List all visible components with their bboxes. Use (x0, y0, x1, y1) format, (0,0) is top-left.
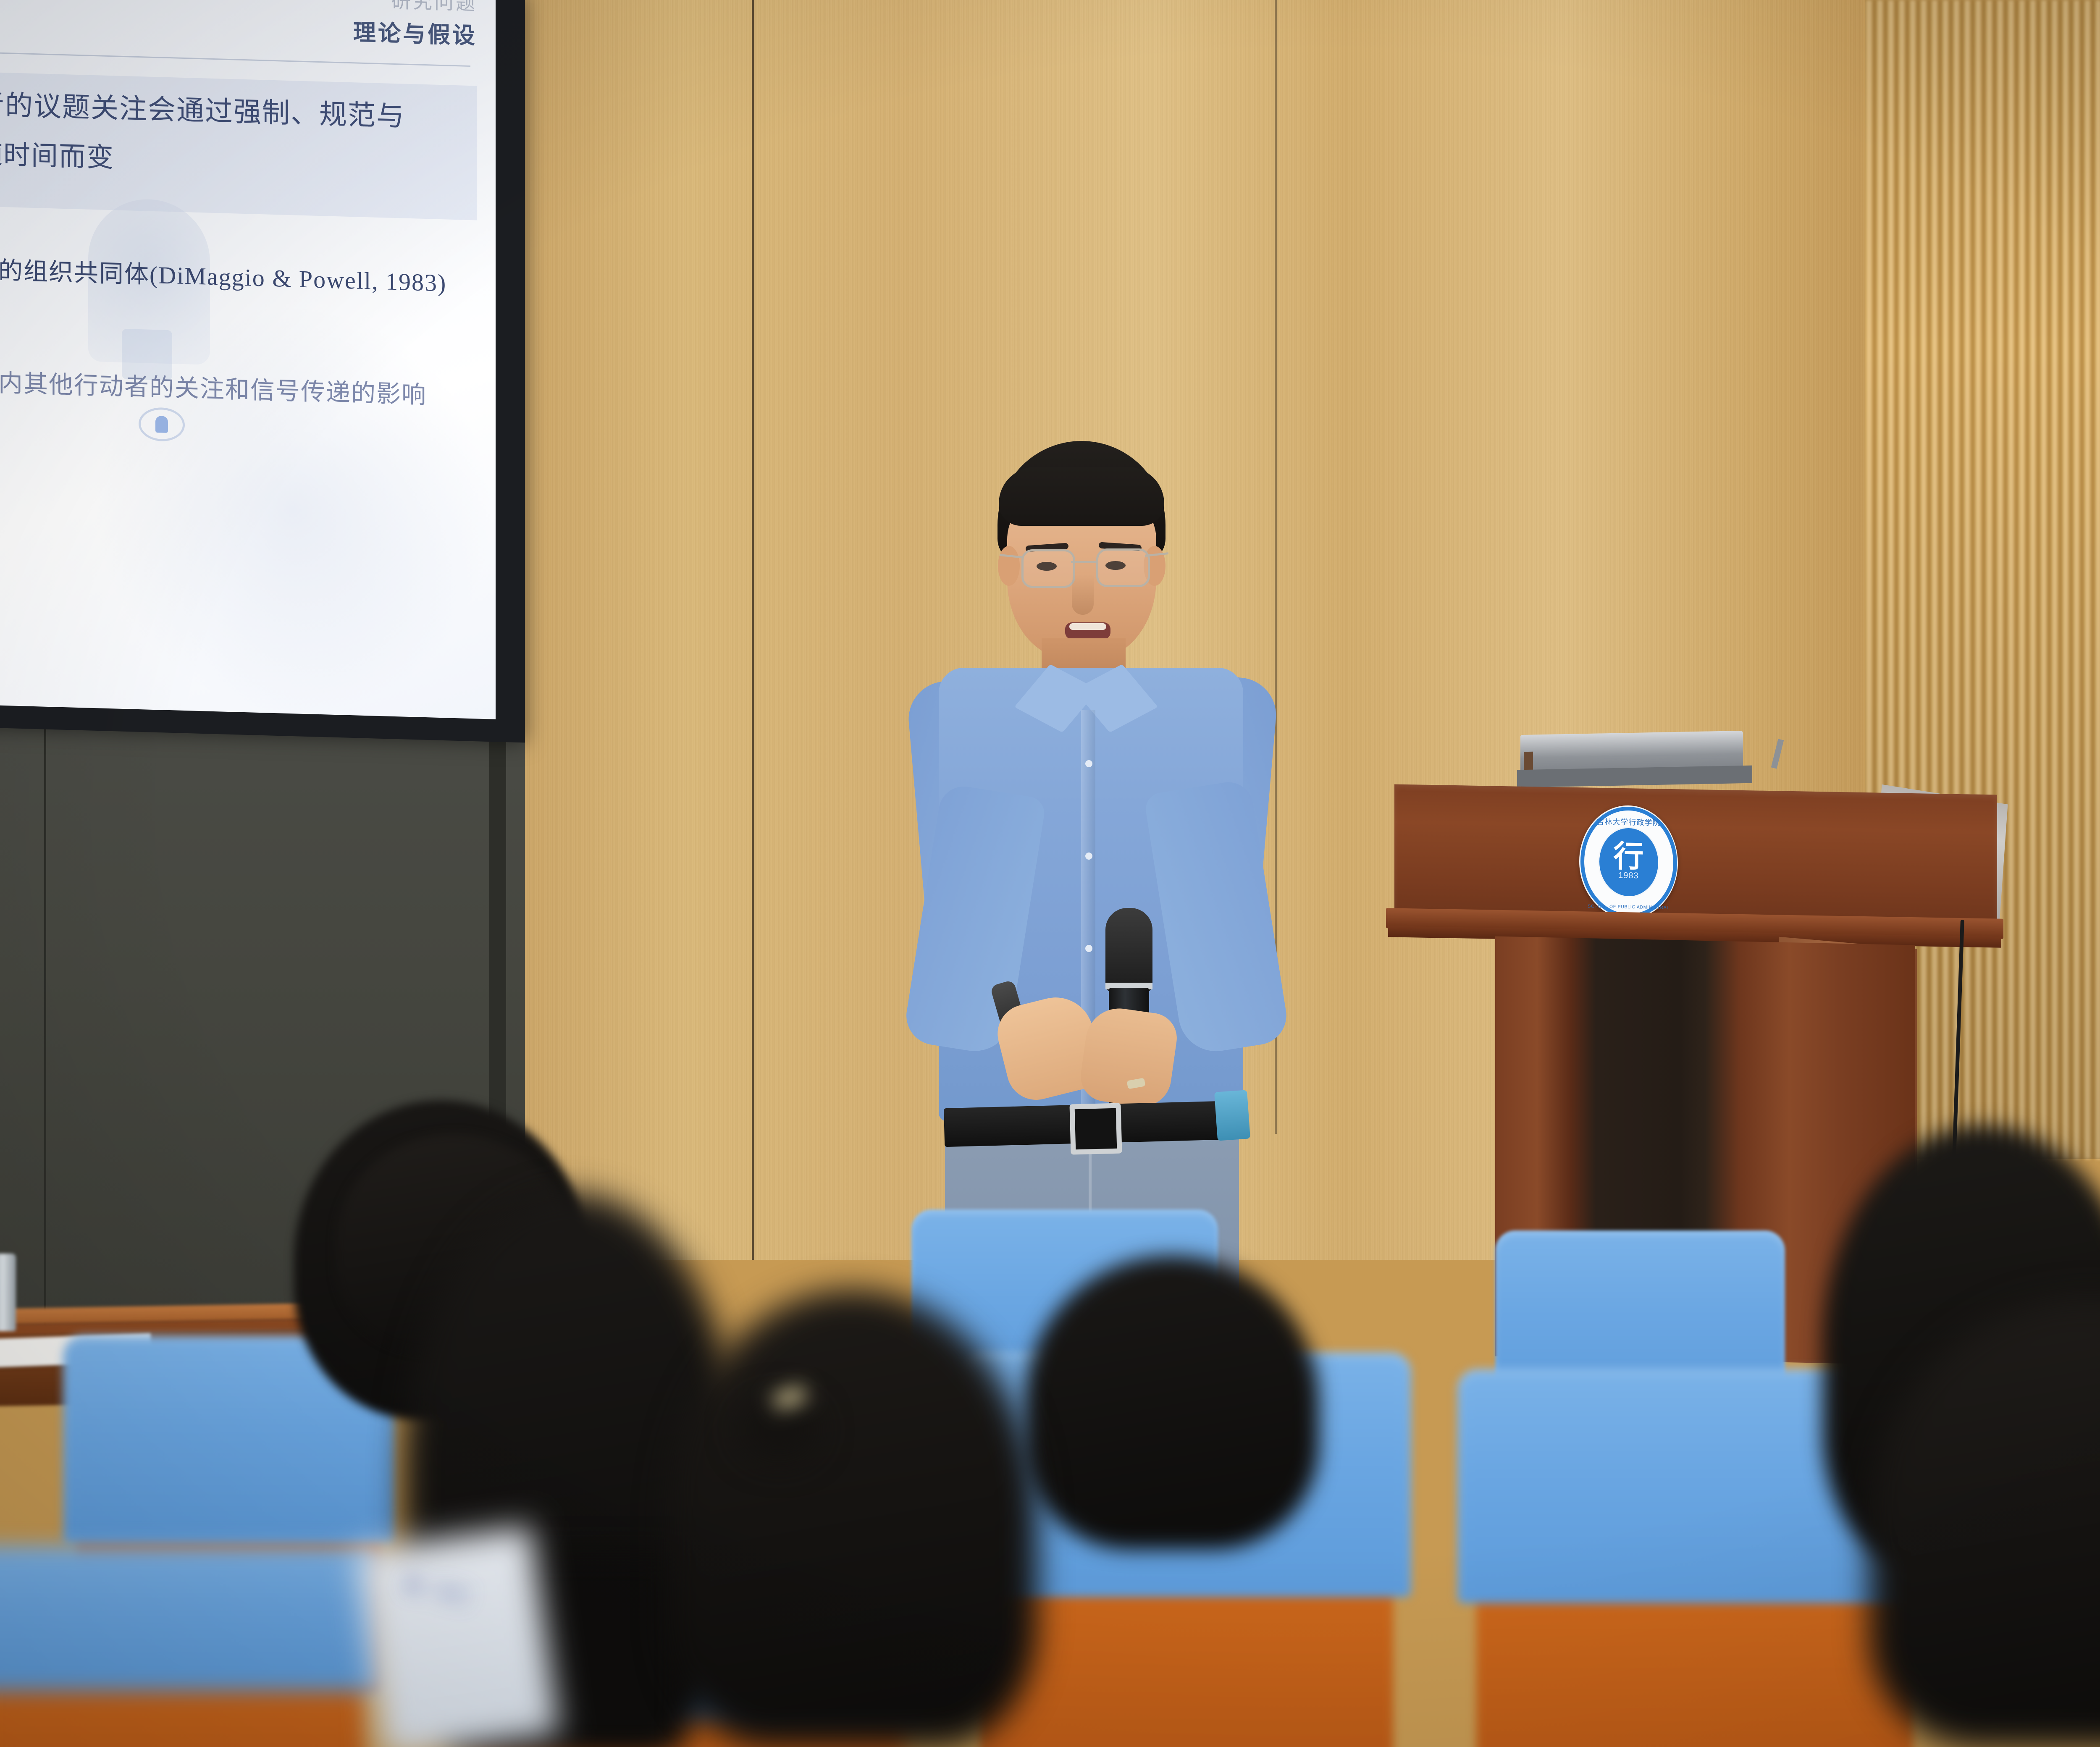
audience-white-shirt (356, 1526, 559, 1747)
podium-front-panel (1394, 784, 1997, 929)
belt-buckle (1069, 1103, 1122, 1154)
shirt-button (1085, 853, 1092, 860)
emblem-glyph: 行 (1613, 843, 1643, 869)
water-bottle (0, 1254, 16, 1331)
lecture-hall-photo: 研究问题 理论与假设 动者的议题关注会通过强制、规范与 将随时间而变 压力的组织… (0, 0, 2100, 1747)
handheld-microphone-icon[interactable] (1105, 908, 1152, 992)
emblem-founding-year: 1983 (1618, 871, 1639, 881)
speaker-teeth (1069, 623, 1106, 630)
dark-wall-seam (44, 722, 46, 1344)
projection-screen: 研究问题 理论与假设 动者的议题关注会通过强制、规范与 将随时间而变 压力的组织… (0, 0, 496, 719)
speaker-hair-fringe (999, 467, 1164, 526)
slide-text-line-2: 将随时间而变 (0, 131, 114, 175)
slide-divider-rule (0, 51, 470, 67)
slide-section-active: 理论与假设 (353, 21, 477, 47)
jilin-university-emblem: 吉林大学行政学院 行 1983 SCHOOL OF PUBLIC ADMINIS… (1579, 805, 1678, 920)
shirt-button (1085, 945, 1092, 952)
wall-seam (752, 0, 754, 1260)
speaker-nose (1072, 574, 1094, 615)
slide-citation-line: 压力的组织共同体(DiMaggio & Powell, 1983) (0, 249, 446, 298)
presentation-slide: 研究问题 理论与假设 动者的议题关注会通过强制、规范与 将随时间而变 压力的组织… (0, 0, 496, 719)
speaker-ear-left (998, 546, 1020, 586)
eyeglasses-icon (1096, 548, 1150, 587)
auditorium-seat[interactable] (0, 1545, 382, 1747)
microphone-transmitter-pack (1214, 1090, 1250, 1141)
emblem-outer-ring: 吉林大学行政学院 行 1983 SCHOOL OF PUBLIC ADMINIS… (1580, 806, 1677, 918)
shirt-button (1085, 760, 1092, 767)
emblem-center-disc: 行 1983 (1598, 826, 1659, 898)
slide-text-line-4: 场域内其他行动者的关注和信号传递的影响 (0, 362, 427, 410)
lightbulb-core (155, 416, 168, 433)
slide-section-inactive: 研究问题 (391, 0, 477, 13)
eyeglasses-icon (1021, 549, 1075, 588)
audience-head (1025, 1256, 1319, 1550)
emblem-chinese-text: 吉林大学行政学院 (1584, 816, 1673, 828)
audience-head (668, 1289, 1037, 1747)
eyeglasses-bridge (1071, 561, 1096, 563)
lightbulb-icon (139, 407, 185, 442)
